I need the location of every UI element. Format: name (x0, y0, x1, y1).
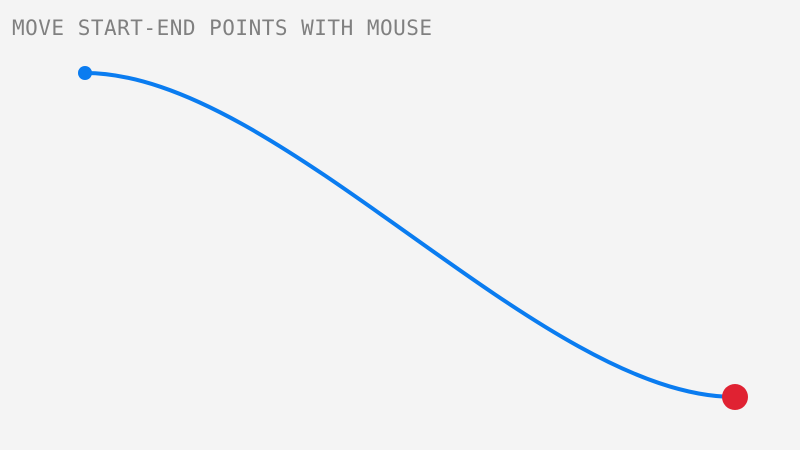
curve-canvas[interactable] (0, 0, 800, 450)
page-title: MOVE START-END POINTS WITH MOUSE (12, 16, 433, 40)
bezier-curve-demo: MOVE START-END POINTS WITH MOUSE (0, 0, 800, 450)
end-point-handle[interactable] (722, 384, 748, 410)
canvas-surface (0, 0, 800, 450)
start-point-handle[interactable] (78, 66, 92, 80)
